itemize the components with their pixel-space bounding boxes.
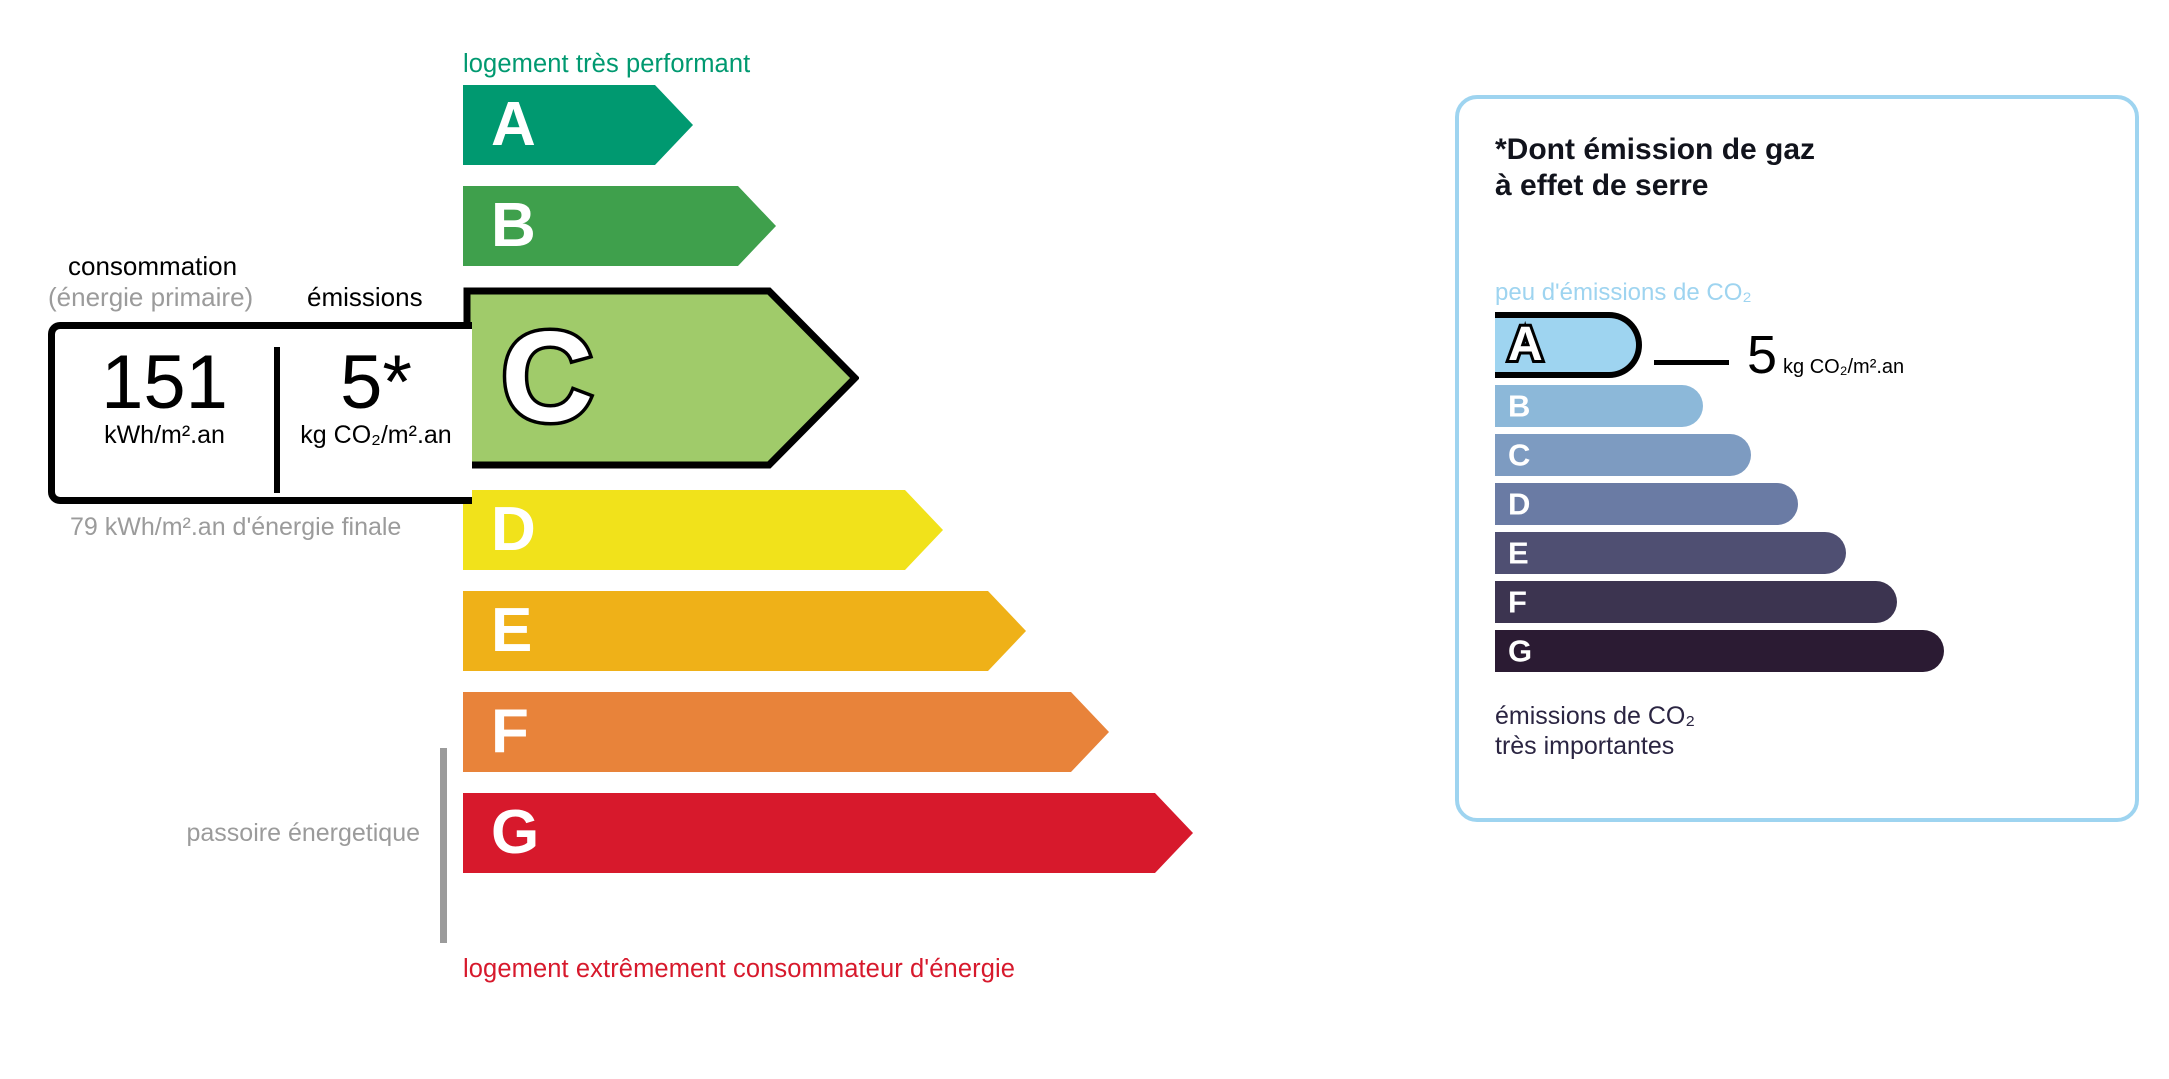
co2-panel-title: *Dont émission de gaz à effet de serre: [1495, 132, 1815, 204]
co2-band-bar: [1495, 434, 1751, 476]
energy-band-d[interactable]: D: [463, 490, 943, 570]
co2-band-bar: [1495, 630, 1944, 672]
energy-top-caption: logement très performant: [463, 50, 750, 79]
co2-band-f[interactable]: F: [1495, 581, 1897, 623]
energy-band-arrow: [463, 591, 1026, 671]
energy-band-b[interactable]: B: [463, 186, 776, 266]
energy-band-a[interactable]: A: [463, 85, 693, 165]
consumption-value: 151: [55, 343, 274, 423]
energy-band-arrow: [463, 186, 776, 266]
co2-band-c[interactable]: C: [1495, 434, 1751, 476]
value-box: 151 kWh/m².an 5* kg CO₂/m².an: [48, 322, 472, 504]
co2-panel: *Dont émission de gaz à effet de serre p…: [1455, 95, 2139, 822]
energy-band-arrow: [463, 287, 859, 469]
consumption-value-cell: 151 kWh/m².an: [55, 343, 274, 450]
energy-band-e[interactable]: E: [463, 591, 1026, 671]
co2-band-letter: C: [1508, 440, 1530, 471]
co2-bottom-caption: émissions de CO₂ très importantes: [1495, 701, 1695, 761]
emission-unit: kg CO₂/m².an: [280, 421, 472, 450]
energy-band-arrow: [463, 85, 693, 165]
co2-top-caption: peu d'émissions de CO₂: [1495, 279, 1752, 307]
co2-band-e[interactable]: E: [1495, 532, 1846, 574]
dpe-energy-chart: logement très performant ABCDEFG logemen…: [0, 0, 1430, 1079]
co2-band-bar: [1495, 483, 1798, 525]
co2-band-bar: [1495, 532, 1846, 574]
co2-band-b[interactable]: B: [1495, 385, 1703, 427]
co2-band-letter: A: [1508, 321, 1543, 369]
energy-band-arrow: [463, 692, 1109, 772]
energy-band-arrow: [463, 490, 943, 570]
energy-band-f[interactable]: F: [463, 692, 1109, 772]
co2-band-d[interactable]: D: [1495, 483, 1798, 525]
co2-band-letter: B: [1508, 391, 1530, 422]
co2-band-letter: F: [1508, 587, 1527, 618]
co2-leader-line: [1654, 360, 1729, 365]
co2-band-letter: G: [1508, 636, 1532, 667]
co2-band-g[interactable]: G: [1495, 630, 1944, 672]
final-energy-note: 79 kWh/m².an d'énergie finale: [70, 512, 401, 543]
co2-value-unit: kg CO₂/m².an: [1783, 356, 1904, 378]
co2-value-number: 5: [1747, 325, 1777, 385]
emission-value: 5*: [280, 343, 472, 423]
passoire-label: passoire énergetique: [180, 818, 420, 849]
passoire-bracket: [440, 748, 447, 943]
emissions-header: émissions: [307, 282, 423, 313]
emission-value-cell: 5* kg CO₂/m².an: [280, 343, 472, 450]
co2-band-letter: D: [1508, 489, 1530, 520]
co2-band-a[interactable]: A5kg CO₂/m².an: [1495, 312, 1642, 378]
consumption-unit: kWh/m².an: [55, 421, 274, 450]
co2-value-readout: 5kg CO₂/m².an: [1747, 324, 1904, 386]
energy-band-arrow: [463, 793, 1193, 873]
consumption-subheader: (énergie primaire): [48, 282, 253, 313]
energy-band-c[interactable]: C: [463, 287, 859, 469]
co2-band-letter: E: [1508, 538, 1529, 569]
consumption-header: consommation: [68, 251, 237, 282]
energy-band-g[interactable]: G: [463, 793, 1193, 873]
energy-bottom-caption: logement extrêmement consommateur d'éner…: [463, 955, 1015, 984]
co2-band-bar: [1495, 581, 1897, 623]
